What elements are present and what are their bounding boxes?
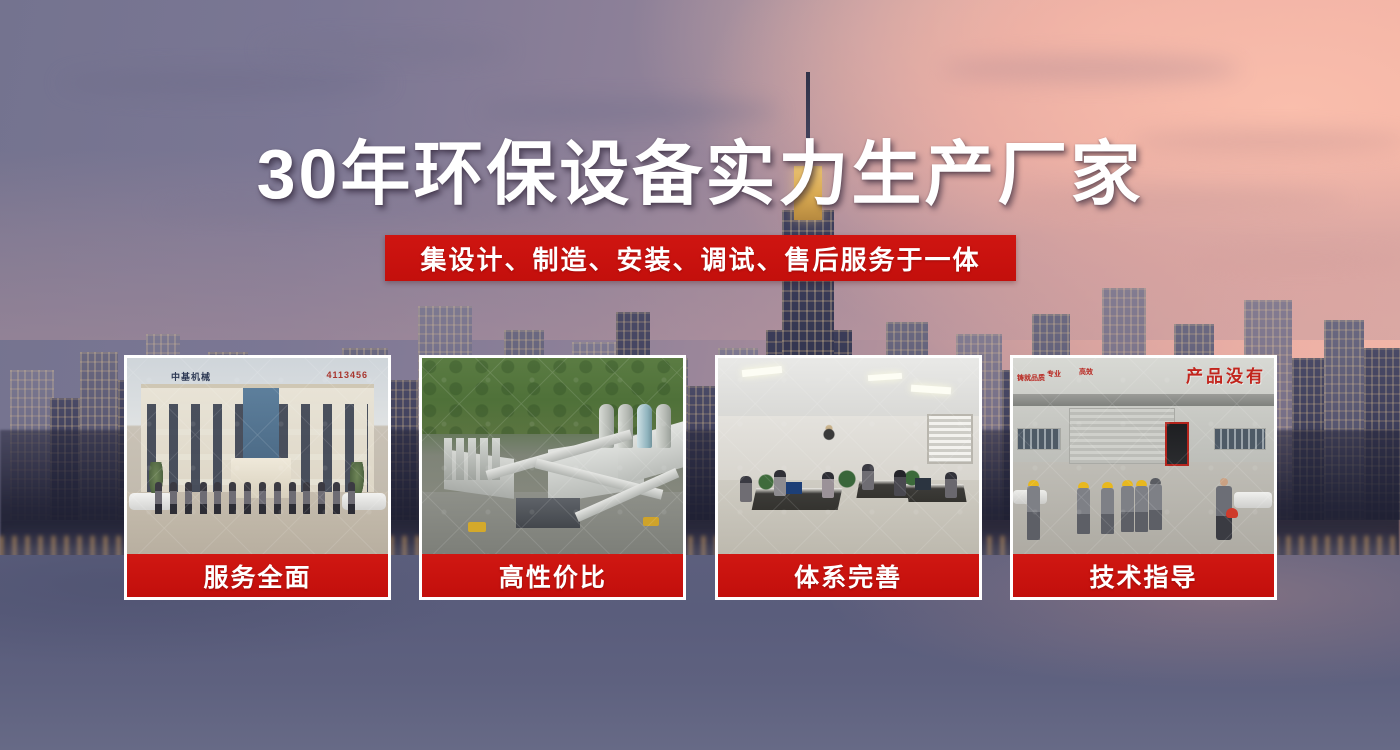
monitor (915, 478, 931, 490)
card-caption-text: 体系完善 (794, 558, 902, 594)
feature-card-guidance[interactable]: 产品没有 铸就品质 专业 高效 (1010, 355, 1277, 603)
hero-banner: 30年环保设备实力生产厂家 集设计、制造、安装、调试、售后服务于一体 中基机械 … (0, 0, 1400, 750)
page-title: 30年环保设备实力生产厂家 (0, 136, 1400, 212)
photo-office-interior (715, 355, 982, 554)
photo-worker-training: 产品没有 铸就品质 专业 高效 (1010, 355, 1277, 554)
card-caption-bar: 体系完善 (715, 554, 982, 600)
watermark-overlay (422, 358, 683, 554)
feature-card-value[interactable]: 高性价比 (419, 355, 686, 603)
laptop (786, 482, 802, 494)
feature-card-service[interactable]: 中基机械 4113456 服务全面 (124, 355, 391, 603)
card-caption-text: 技术指导 (1089, 558, 1197, 594)
card-caption-bar: 高性价比 (419, 554, 686, 600)
watermark-overlay (718, 358, 979, 554)
watermark-overlay (1013, 358, 1274, 554)
watermark-overlay (127, 358, 388, 554)
red-helmet (1226, 508, 1238, 518)
feature-card-system[interactable]: 体系完善 (715, 355, 982, 603)
card-caption-text: 服务全面 (203, 558, 311, 594)
feature-card-list: 中基机械 4113456 服务全面 (124, 355, 1277, 603)
photo-industrial-plant (419, 355, 686, 554)
card-caption-text: 高性价比 (499, 558, 607, 594)
card-caption-bar: 技术指导 (1010, 554, 1277, 600)
cloud (940, 55, 1240, 83)
card-caption-bar: 服务全面 (124, 554, 391, 600)
cloud (480, 100, 780, 122)
subtitle-banner: 集设计、制造、安装、调试、售后服务于一体 (385, 235, 1016, 281)
cloud (60, 70, 390, 96)
subtitle-text: 集设计、制造、安装、调试、售后服务于一体 (420, 240, 980, 277)
cloud (260, 40, 510, 60)
photo-office-building: 中基机械 4113456 (124, 355, 391, 554)
